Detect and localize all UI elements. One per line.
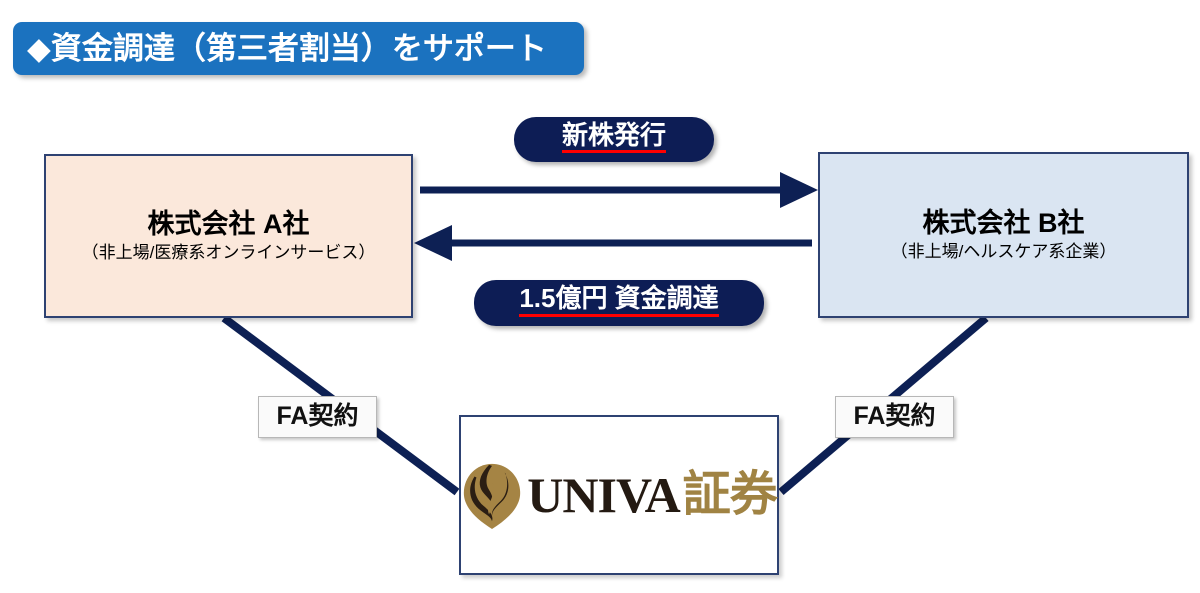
label-funding-underline: [519, 314, 718, 317]
company-b-name: 株式会社 B社: [923, 208, 1085, 239]
label-new-shares-text: 新株発行: [562, 122, 666, 149]
arrow-b-to-a: [414, 225, 812, 261]
univa-logo: UNIVA 証券: [461, 461, 776, 529]
label-fa-contract-left: FA契約: [258, 396, 377, 438]
company-box-a: 株式会社 A社 （非上場/医療系オンラインサービス）: [44, 154, 413, 318]
page-title: ◆資金調達（第三者割当）をサポート: [27, 33, 547, 64]
broker-box-univa: UNIVA 証券: [459, 415, 779, 575]
company-a-name: 株式会社 A社: [148, 209, 310, 240]
label-new-shares-underline: [562, 150, 666, 153]
company-b-description: （非上場/ヘルスケア系企業）: [891, 242, 1117, 262]
label-funding-text: 1.5億円 資金調達: [519, 285, 718, 312]
univa-flame-icon: [461, 461, 523, 529]
label-fa-contract-right: FA契約: [835, 396, 954, 438]
label-funding: 1.5億円 資金調達: [474, 280, 764, 326]
page-title-banner: ◆資金調達（第三者割当）をサポート: [13, 22, 584, 75]
company-box-b: 株式会社 B社 （非上場/ヘルスケア系企業）: [818, 152, 1189, 318]
label-new-shares: 新株発行: [514, 117, 714, 162]
univa-wordmark: UNIVA: [527, 470, 679, 520]
label-fa-contract-right-text: FA契約: [854, 403, 936, 429]
label-new-shares-inner: 新株発行: [558, 122, 670, 157]
univa-jp-suffix: 証券: [683, 471, 777, 519]
company-a-description: （非上場/医療系オンラインサービス）: [82, 243, 376, 263]
label-fa-contract-left-text: FA契約: [277, 403, 359, 429]
arrow-a-to-b: [420, 172, 818, 208]
label-funding-inner: 1.5億円 資金調達: [515, 285, 722, 320]
